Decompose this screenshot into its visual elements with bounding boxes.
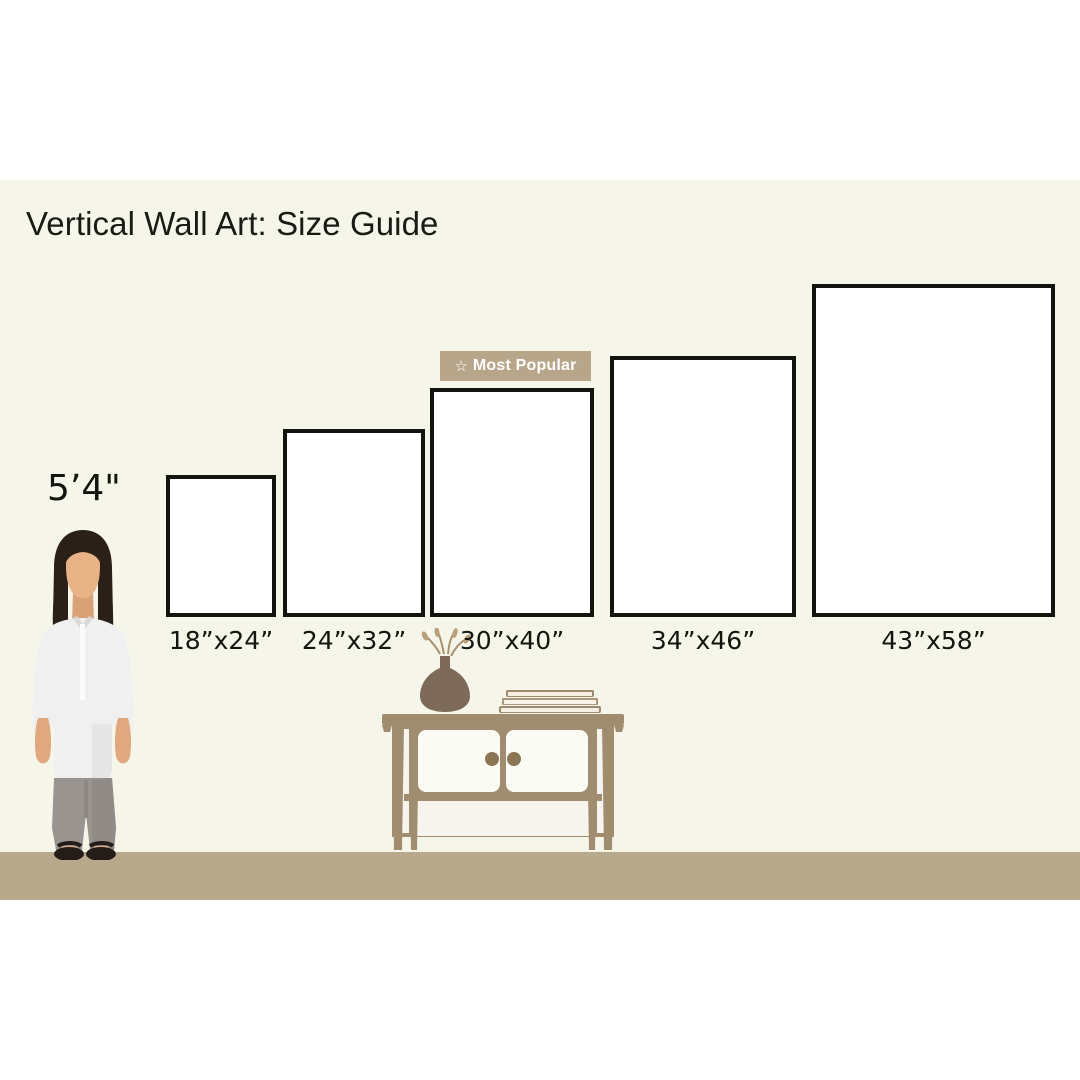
- frame-size-label: 18”x24”: [166, 626, 276, 655]
- frame-size-label: 24”x32”: [283, 626, 425, 655]
- art-frame[interactable]: [166, 475, 276, 617]
- cabinet-knob-left: [485, 752, 499, 766]
- floor-strip: [0, 852, 1080, 900]
- frame-size-label: 43”x58”: [812, 626, 1055, 655]
- most-popular-label: Most Popular: [473, 358, 577, 374]
- stacked-books: [499, 690, 601, 713]
- most-popular-badge: ☆ Most Popular: [440, 351, 591, 381]
- console-table: [378, 628, 628, 856]
- art-frame[interactable]: [812, 284, 1055, 617]
- cabinet-knob-right: [507, 752, 521, 766]
- art-frame[interactable]: [430, 388, 594, 617]
- person-silhouette: [18, 528, 148, 860]
- page-title: Vertical Wall Art: Size Guide: [26, 205, 439, 243]
- size-guide-canvas: Vertical Wall Art: Size Guide 5’4": [0, 0, 1080, 1080]
- frame-size-label: 34”x46”: [610, 626, 796, 655]
- art-frame[interactable]: [283, 429, 425, 617]
- star-icon: ☆: [454, 359, 467, 374]
- frame-size-label: 30”x40”: [430, 626, 594, 655]
- art-frame[interactable]: [610, 356, 796, 617]
- person-height-label: 5’4": [47, 468, 121, 509]
